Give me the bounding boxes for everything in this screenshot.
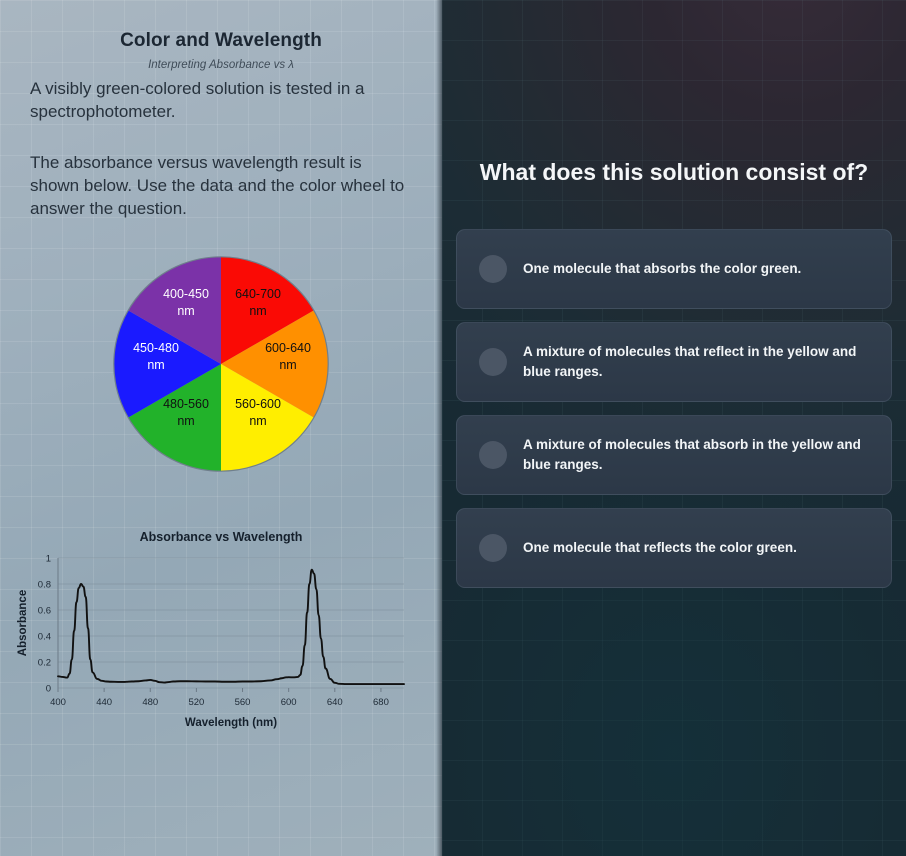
chart-y-tick-label: 0.4 — [38, 632, 51, 643]
chart-x-axis-title: Wavelength (nm) — [185, 717, 277, 729]
quiz-screen: Color and Wavelength Interpreting Absorb… — [0, 0, 906, 856]
answer-option-a[interactable]: One molecule that absorbs the color gree… — [456, 229, 892, 309]
page-subtitle: Interpreting Absorbance vs λ — [0, 59, 442, 71]
chart-title: Absorbance vs Wavelength — [0, 530, 442, 544]
color-wheel: 640-700nm 600-640nm 560-600nm 480-560nm … — [113, 256, 329, 472]
color-wheel-svg — [113, 256, 329, 472]
question-prompt: What does this solution consist of? — [442, 0, 906, 187]
page-title: Color and Wavelength — [0, 30, 442, 52]
question-panel: What does this solution consist of? One … — [442, 0, 906, 856]
radio-button-icon[interactable] — [479, 441, 507, 469]
answer-option-d[interactable]: One molecule that reflects the color gre… — [456, 508, 892, 588]
stimulus-paragraph-2: The absorbance versus wavelength result … — [30, 151, 412, 221]
chart-y-axis-title: Absorbance — [17, 590, 29, 656]
absorbance-chart: Absorbance vs Wavelength 00.20.40.60.814… — [0, 530, 442, 745]
chart-x-tick-label: 440 — [96, 697, 112, 708]
answer-option-label: A mixture of molecules that absorb in th… — [523, 435, 869, 476]
chart-x-tick-label: 400 — [50, 697, 66, 708]
answer-option-c[interactable]: A mixture of molecules that absorb in th… — [456, 415, 892, 495]
radio-button-icon[interactable] — [479, 348, 507, 376]
answer-option-label: A mixture of molecules that reflect in t… — [523, 342, 869, 383]
chart-x-tick-label: 680 — [373, 697, 389, 708]
stimulus-panel: Color and Wavelength Interpreting Absorb… — [0, 0, 442, 856]
chart-x-tick-label: 520 — [188, 697, 204, 708]
chart-y-tick-label: 1 — [46, 554, 51, 565]
chart-x-tick-label: 600 — [281, 697, 297, 708]
answer-option-label: One molecule that reflects the color gre… — [523, 538, 797, 558]
chart-data-curve — [58, 570, 404, 684]
radio-button-icon[interactable] — [479, 255, 507, 283]
answer-option-b[interactable]: A mixture of molecules that reflect in t… — [456, 322, 892, 402]
chart-plot: 00.20.40.60.81400440480520560600640680Wa… — [12, 548, 412, 733]
chart-x-tick-label: 560 — [235, 697, 251, 708]
answer-options: One molecule that absorbs the color gree… — [456, 229, 892, 588]
chart-y-tick-label: 0.2 — [38, 658, 51, 669]
answer-option-label: One molecule that absorbs the color gree… — [523, 259, 801, 279]
chart-y-tick-label: 0 — [46, 684, 51, 695]
chart-x-tick-label: 480 — [142, 697, 158, 708]
radio-button-icon[interactable] — [479, 534, 507, 562]
chart-y-tick-label: 0.8 — [38, 580, 51, 591]
chart-y-tick-label: 0.6 — [38, 606, 51, 617]
chart-x-tick-label: 640 — [327, 697, 343, 708]
stimulus-paragraph-1: A visibly green-colored solution is test… — [30, 77, 412, 124]
